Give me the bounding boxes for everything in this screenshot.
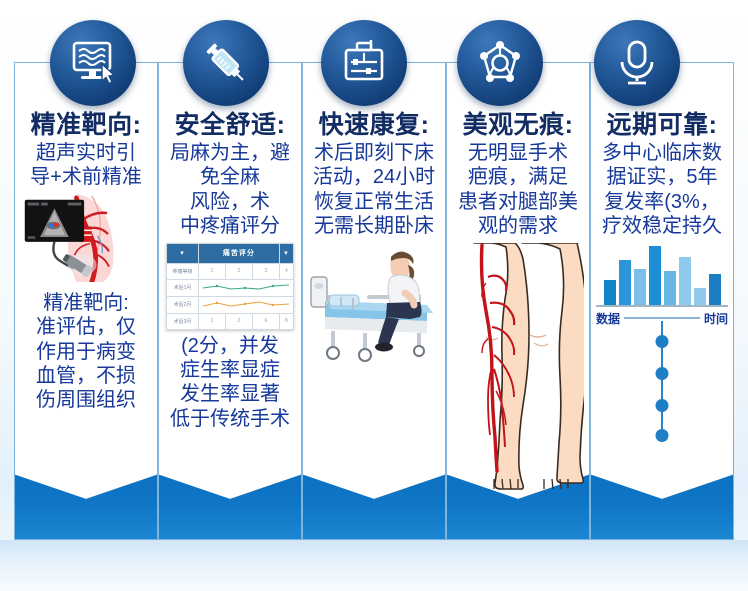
- timeline-dot-1: [656, 335, 669, 348]
- table-header-row: ▾ 痛苦评分 ▾: [167, 243, 294, 263]
- pain-score-table-grid: ▾ 痛苦评分 ▾ 疼痛等级 1 2 3 4 术后1月: [166, 243, 294, 330]
- card-2-subtext: 局麻为主，避 免全麻 风险，术 中疼痛评分: [170, 141, 290, 239]
- card-1-subtext: 超声实时引 导+术前精准: [30, 141, 142, 190]
- card-precision-targeting[interactable]: 精准靶向: 超声实时引 导+术前精准: [14, 62, 158, 540]
- infographic-poster: 精准靶向: 超声实时引 导+术前精准: [0, 0, 748, 591]
- card-4-title: 美观无痕:: [452, 111, 584, 139]
- bar-7: [694, 288, 706, 305]
- card-fast-recovery[interactable]: 快速康复: 术后即刻下床 活动，24小时 恢复正常生活 无需长期卧床: [302, 62, 446, 540]
- cell: 6: [252, 313, 279, 329]
- bar-5: [664, 271, 676, 305]
- legs-varicose-veins-illustration: [452, 243, 584, 496]
- hospital-bed-equipment-icon: [339, 38, 389, 88]
- badge-hospital-bed-equipment: [321, 20, 407, 106]
- header-caret-right: ▾: [279, 243, 293, 263]
- pain-score-table: ▾ 痛苦评分 ▾ 疼痛等级 1 2 3 4 术后1月: [166, 243, 294, 330]
- ultrasound-probe-vessel-illustration: [20, 194, 152, 287]
- row-label-grade: 疼痛等级: [167, 263, 199, 279]
- card-2-title: 安全舒适:: [164, 111, 296, 139]
- data-time-bar-chart: 数据 时间: [596, 243, 728, 449]
- card-long-term-reliable[interactable]: 远期可靠: 多中心临床数 据证实，5年 复发率(3%， 疗效稳定持久 数据 时间: [590, 62, 734, 540]
- badge-syringe: [183, 20, 269, 106]
- row-label-month1: 术后1月: [167, 279, 199, 296]
- syringe-icon: [200, 37, 252, 89]
- card-3-footer-chevron: [302, 463, 446, 540]
- badge-molecule-network: [457, 20, 543, 106]
- card-aesthetic-scarless[interactable]: 美观无痕: 无明显手术 疤痕，满足 患者对腿部美 观的需求: [446, 62, 590, 540]
- ultrasound-monitor-icon: [66, 38, 120, 88]
- card-1-footer-chevron: [14, 463, 158, 540]
- patient-on-hospital-bed-illustration: [305, 243, 443, 372]
- table-row: 疼痛等级 1 2 3 4: [167, 263, 294, 279]
- bar-6: [679, 257, 691, 305]
- cell: 8: [279, 313, 293, 329]
- card-1-title: 精准靶向:: [24, 111, 148, 139]
- sparkline-orange-cell: [199, 296, 294, 313]
- axis-connector-line: [624, 317, 700, 319]
- cell: 3: [252, 263, 279, 279]
- timeline-dot-4: [656, 429, 669, 442]
- table-row: 术后1月: [167, 279, 294, 296]
- card-1-lowertext: 精准靶向: 准评估，仅 作用于病变 血管，不损 伤周围组织: [36, 291, 136, 413]
- floor-reflection: [0, 540, 748, 591]
- row-label-month2: 术后2月: [167, 296, 199, 313]
- card-4-subtext: 无明显手术 疤痕，满足 患者对腿部美 观的需求: [458, 141, 578, 239]
- header-caret-left: ▾: [167, 243, 199, 263]
- card-5-footer-chevron: [590, 463, 734, 540]
- microphone-icon: [613, 37, 661, 89]
- card-3-title: 快速康复:: [307, 111, 441, 139]
- bar-1: [604, 280, 616, 305]
- cell: 1: [199, 263, 226, 279]
- bar-3: [634, 269, 646, 305]
- cell: 2: [199, 313, 226, 329]
- row-label-month3: 术后3月: [167, 313, 199, 329]
- bar-8: [709, 274, 721, 305]
- card-3-subtext: 术后即刻下床 活动，24小时 恢复正常生活 无需长期卧床: [313, 141, 435, 239]
- card-5-title: 远期可靠:: [596, 111, 728, 139]
- badge-ultrasound-monitor: [50, 20, 136, 106]
- cell: 2: [225, 263, 252, 279]
- card-5-subtext: 多中心临床数 据证实，5年 复发率(3%， 疗效稳定持久: [602, 141, 722, 239]
- cell: 4: [279, 263, 293, 279]
- green-sparkline: [200, 281, 292, 293]
- table-row: 术后3月 2 2 6 8: [167, 313, 294, 329]
- sparkline-green-cell: [199, 279, 294, 296]
- timeline-dot-3: [656, 399, 669, 412]
- orange-sparkline: [200, 298, 292, 310]
- molecule-network-icon: [474, 37, 526, 89]
- badge-microphone: [594, 20, 680, 106]
- bar-4: [649, 246, 661, 305]
- timeline-dot-2: [656, 367, 669, 380]
- card-2-footer-chevron: [158, 463, 302, 540]
- cell: 2: [225, 313, 252, 329]
- card-2-lowertext: (2分，并发 症生率显症 发生率显著 低于传统手术: [170, 334, 290, 432]
- pain-score-header-title: 痛苦评分: [199, 243, 280, 263]
- bar-2: [619, 260, 631, 305]
- cards-row: 精准靶向: 超声实时引 导+术前精准: [14, 62, 734, 540]
- bar-chart-bars: [596, 243, 728, 307]
- card-safe-comfortable[interactable]: 安全舒适: 局麻为主，避 免全麻 风险，术 中疼痛评分 ▾ 痛苦评分 ▾ 疼痛等…: [158, 62, 302, 540]
- table-row: 术后2月: [167, 296, 294, 313]
- timeline-dots: [596, 321, 728, 449]
